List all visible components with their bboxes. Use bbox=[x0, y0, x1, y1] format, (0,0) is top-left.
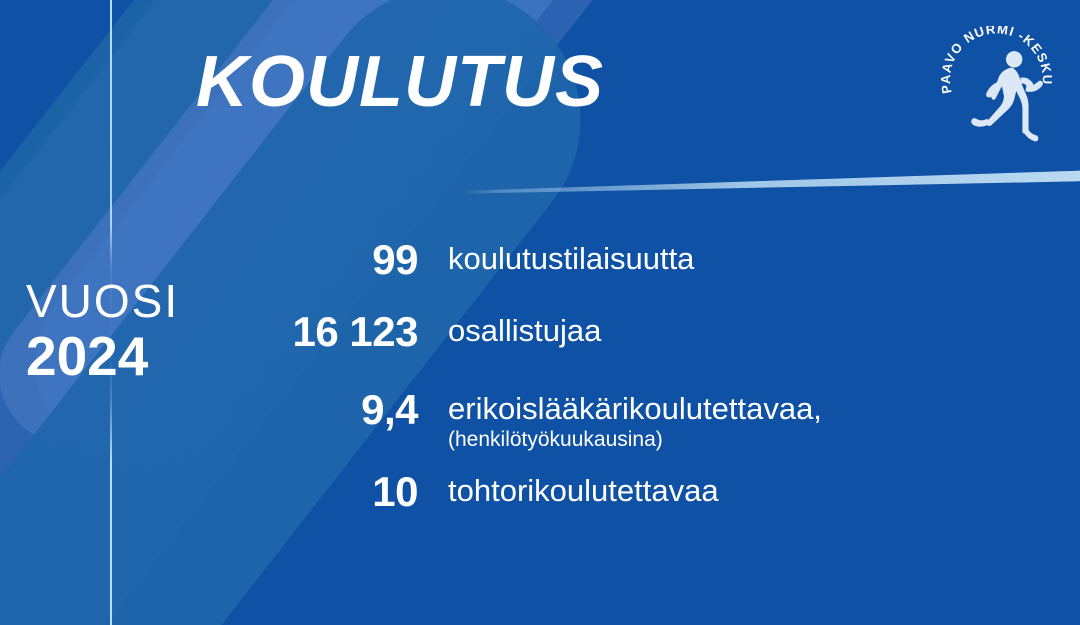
stat-label: tohtorikoulutettavaa bbox=[448, 474, 719, 508]
stat-row: 9,4 erikoislääkärikoulutettavaa, (henkil… bbox=[170, 388, 960, 452]
stat-label: koulutustilaisuutta bbox=[448, 242, 694, 276]
stat-value: 9,4 bbox=[170, 388, 418, 432]
stat-value: 99 bbox=[170, 238, 418, 282]
stat-text: koulutustilaisuutta bbox=[448, 238, 694, 276]
stat-sublabel: (henkilötyökuukausina) bbox=[448, 427, 822, 452]
stat-row: 10 tohtorikoulutettavaa bbox=[170, 470, 960, 514]
stat-value: 16 123 bbox=[170, 310, 418, 354]
stat-row: 16 123 osallistujaa bbox=[170, 310, 960, 354]
infographic-canvas: KOULUTUS PAAVO NURMI -KESKUS VUOSI 2 bbox=[0, 0, 1080, 625]
stat-label: erikoislääkärikoulutettavaa, bbox=[448, 392, 822, 426]
year-value: 2024 bbox=[26, 329, 179, 384]
stat-value: 10 bbox=[170, 470, 418, 514]
stat-text: osallistujaa bbox=[448, 310, 601, 348]
stat-label: osallistujaa bbox=[448, 314, 601, 348]
paavo-nurmi-keskus-logo: PAAVO NURMI -KESKUS bbox=[940, 26, 1056, 142]
stat-text: erikoislääkärikoulutettavaa, (henkilötyö… bbox=[448, 388, 822, 452]
stat-row: 99 koulutustilaisuutta bbox=[170, 238, 960, 282]
year-block: VUOSI 2024 bbox=[26, 278, 179, 384]
stats-list: 99 koulutustilaisuutta 16 123 osallistuj… bbox=[170, 238, 960, 536]
year-label: VUOSI bbox=[26, 278, 179, 324]
page-title: KOULUTUS bbox=[196, 46, 604, 118]
slanted-rule bbox=[462, 170, 1080, 199]
stat-text: tohtorikoulutettavaa bbox=[448, 470, 719, 508]
